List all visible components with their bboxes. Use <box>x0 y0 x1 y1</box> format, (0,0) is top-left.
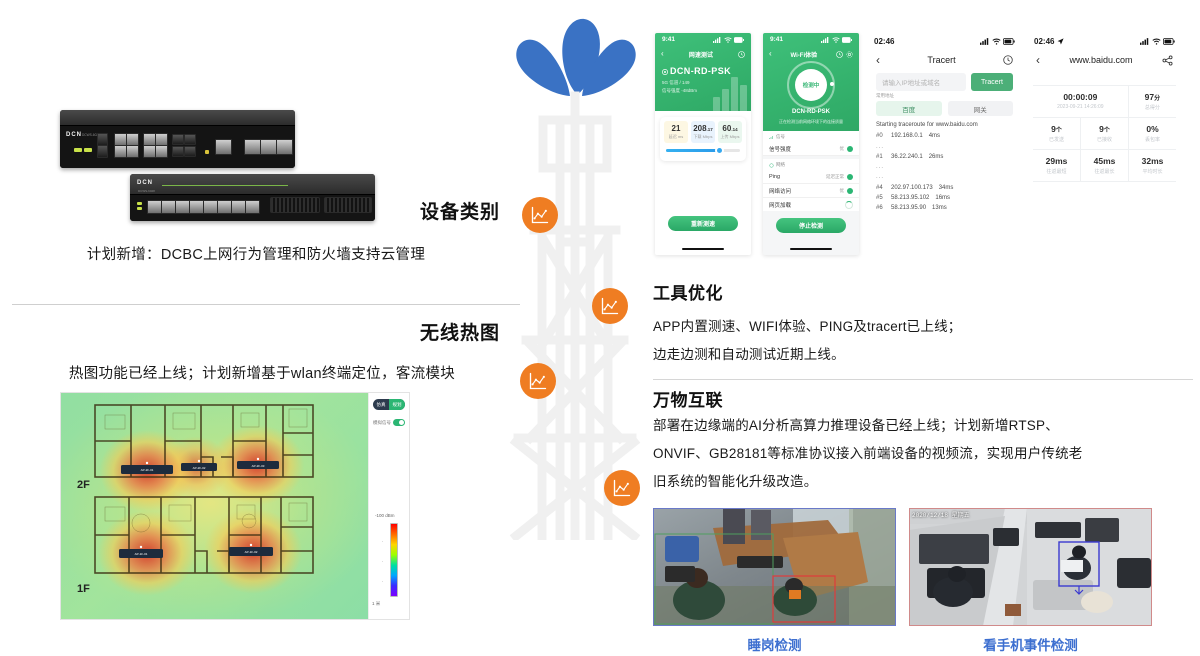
nav-title: www.baidu.com <box>1069 55 1132 65</box>
chart-icon <box>600 296 620 316</box>
status-icons <box>1140 38 1175 45</box>
wifi-ssid: DCN-RD-PSK <box>763 109 859 115</box>
status-icons <box>821 37 852 43</box>
stat-label: 已接收 <box>1081 136 1128 143</box>
stat-score: 97分 总得分 <box>1129 86 1176 117</box>
wifi-icon <box>992 38 1001 45</box>
divider-right <box>653 379 1193 380</box>
back-icon[interactable]: ‹ <box>661 50 664 58</box>
quick-address-chips: 百度 网关 <box>876 101 1013 116</box>
section-title-device-category: 设备类别 <box>0 197 500 224</box>
stat-value: 9个 <box>1033 124 1080 134</box>
stat-label: 已发送 <box>1033 136 1080 143</box>
phone-screenshot-tracert: 02:46 <box>867 33 1022 255</box>
metric-label: 延迟 ms <box>664 134 688 140</box>
heatmap-sidebar: 仿真 规划 模拟信号 -100 dBm · · · 1 米 <box>368 393 409 619</box>
legend-max-label: -100 dBm <box>375 513 395 518</box>
wifi-navbar: ‹ Wi-Fi体验 <box>763 47 859 61</box>
chip-baidu[interactable]: 百度 <box>876 101 942 116</box>
list-item-page-load[interactable]: 网页加载 <box>763 198 859 211</box>
heatmap-colorbar <box>390 523 398 597</box>
device-brand-label-2: DCN <box>137 180 153 186</box>
nav-title: Tracert <box>927 55 955 65</box>
item-value: 优 <box>840 146 845 152</box>
group-header-network: 网络 <box>763 159 859 170</box>
signal-icon <box>980 38 989 45</box>
section-body-device-category: 计划新增：DCBC上网行为管理和防火墙支持云管理 <box>0 243 512 264</box>
section-body-wireless-heatmap: 热图功能已经上线；计划新增基于wlan终端定位，客流模块 <box>0 362 524 383</box>
item-value: 延迟正常 <box>826 174 844 180</box>
signal-petals-icon <box>516 18 635 96</box>
dial-status-text: 检测中 <box>795 69 827 101</box>
stat-rtt-avg: 32ms 平均时长 <box>1129 150 1176 181</box>
simulate-signal-toggle[interactable] <box>393 419 405 426</box>
right-column: 9:41 <box>645 0 1200 656</box>
metric-label: 上传 Mbps <box>718 134 742 140</box>
stat-value: 9个 <box>1081 124 1128 134</box>
back-icon[interactable]: ‹ <box>876 54 880 66</box>
section-title-iot: 万物互联 <box>653 386 723 411</box>
report-navbar: ‹ www.baidu.com <box>1027 50 1182 70</box>
device-photo-switch-top: DCN DCWS-6028 <box>60 110 295 168</box>
heatmap-scale-label: 1 米 <box>372 601 380 607</box>
metric-value: 21 <box>664 124 688 133</box>
heatmap-toggle-row[interactable]: 模拟信号 <box>373 419 405 426</box>
dial-progress-dot <box>830 82 834 86</box>
status-icons <box>713 37 744 43</box>
group-header-signal: 信号 <box>763 131 859 142</box>
metric-upload: 60.14 上传 Mbps <box>718 121 742 143</box>
stat-duration: 00:00:09 2023-09-21 14:26:09 <box>1033 86 1129 117</box>
tracert-navbar: ‹ Tracert <box>867 50 1022 70</box>
report-stats-grid: 00:00:09 2023-09-21 14:26:09 97分 总得分 9个 … <box>1033 85 1176 182</box>
retest-button[interactable]: 重新测速 <box>668 216 738 231</box>
tab-planning[interactable]: 规划 <box>389 399 405 410</box>
back-icon[interactable]: ‹ <box>769 50 772 58</box>
battery-icon <box>842 37 852 43</box>
status-time: 9:41 <box>662 36 675 43</box>
signal-icon <box>713 37 721 43</box>
trace-row: ... <box>876 144 1016 150</box>
speedtest-ssid: DCN-RD-PSK <box>662 66 731 76</box>
speedtest-metrics-card: 21 延迟 ms 208.17 下载 Mbps 60.14 上传 Mbps <box>660 117 746 161</box>
stat-value: 29ms <box>1033 156 1080 166</box>
stat-value: 00:00:09 <box>1033 92 1128 102</box>
item-label: Ping <box>769 174 780 180</box>
ssid-sub-2: 信号强度 -48dBm <box>662 88 697 94</box>
chart-icon <box>528 371 548 391</box>
chart-badge-4 <box>604 470 640 506</box>
battery-icon <box>1003 38 1015 45</box>
floorplan-vector: AP-2F-01AP-2F-02 AP-2F-03AP-1F-01 AP-1F-… <box>61 393 369 619</box>
nav-title: 网速测试 <box>689 50 713 59</box>
trace-header: Starting traceroute for www.baidu.com <box>876 122 1016 128</box>
svg-text:AP-1F-01: AP-1F-01 <box>135 552 148 556</box>
trace-row: #558.213.95.10216ms <box>876 195 1016 201</box>
photo-caption-sleep: 睡岗检测 <box>653 634 896 654</box>
signal-icon <box>1140 38 1149 45</box>
tool-line-1: APP内置测速、WIFI体验、PING及tracert已上线； <box>653 313 1193 341</box>
tracert-input[interactable]: 请输入IP地址或域名 <box>876 73 966 91</box>
stat-sent: 9个 已发送 <box>1033 118 1081 149</box>
stat-received: 9个 已接收 <box>1081 118 1129 149</box>
stat-label: 总得分 <box>1129 104 1176 111</box>
home-indicator <box>790 248 832 251</box>
trace-row: #4202.97.100.17334ms <box>876 185 1016 191</box>
home-indicator <box>682 248 724 251</box>
item-label: 网络访问 <box>769 187 791 195</box>
heatmap-canvas: AP-2F-01AP-2F-02 AP-2F-03AP-1F-01 AP-1F-… <box>61 393 369 619</box>
wifi-header: 9:41 <box>763 33 859 131</box>
stat-rtt-min: 29ms 往返最短 <box>1033 150 1081 181</box>
signal-small-icon <box>769 135 774 140</box>
item-label: 信号强度 <box>769 145 791 153</box>
back-icon[interactable]: ‹ <box>1036 54 1040 66</box>
photo-timestamp: 2020/12/18 星期五 <box>912 510 970 519</box>
stop-scan-button[interactable]: 停止检测 <box>776 218 846 233</box>
input-placeholder: 请输入IP地址或域名 <box>882 77 940 87</box>
left-column: DCN DCWS-6028 <box>0 0 530 656</box>
stat-rtt-max: 45ms 往返最长 <box>1081 150 1129 181</box>
speedtest-navbar: ‹ 网速测试 <box>655 47 751 61</box>
item-value: 优 <box>840 188 845 194</box>
stat-value: 97分 <box>1129 92 1176 102</box>
floor-label-1f: 1F <box>77 583 90 595</box>
chart-badge-2 <box>592 288 628 324</box>
slide-root: DCN DCWS-6028 <box>0 0 1200 656</box>
wifi-group-signal: 信号 信号强度 优 <box>763 131 859 156</box>
trace-row: ... <box>876 174 1016 180</box>
wifi-dot-icon <box>662 69 668 75</box>
stat-label: 2023-09-21 14:26:09 <box>1033 104 1128 110</box>
phone-screenshot-row: 9:41 <box>645 33 1200 259</box>
tracert-run-button[interactable]: Tracert <box>971 73 1013 91</box>
trace-row: #136.22.240.126ms <box>876 154 1016 160</box>
trace-row: ... <box>876 164 1016 170</box>
stats-row: 00:00:09 2023-09-21 14:26:09 97分 总得分 <box>1033 86 1176 118</box>
network-small-icon <box>769 163 774 168</box>
status-icons <box>980 38 1015 45</box>
svg-text:AP-2F-03: AP-2F-03 <box>252 464 265 468</box>
stat-label: 往返最长 <box>1081 168 1128 175</box>
status-bar: 02:46 <box>1027 33 1182 50</box>
svg-text:AP-2F-01: AP-2F-01 <box>141 468 154 472</box>
section-title-wireless-heatmap: 无线热图 <box>0 318 500 345</box>
group-label: 网络 <box>776 162 785 168</box>
ssid-text: DCN-RD-PSK <box>670 66 731 76</box>
wireless-heatmap-screenshot: AP-2F-01AP-2F-02 AP-2F-03AP-1F-01 AP-1F-… <box>60 392 410 620</box>
iot-line-3: 旧系统的智能化升级改造。 <box>653 468 1198 496</box>
trace-row: #658.213.95.9013ms <box>876 205 1016 211</box>
stat-label: 平均时长 <box>1129 168 1176 175</box>
metric-latency: 21 延迟 ms <box>664 121 688 143</box>
photo-phone-vector <box>909 508 1152 626</box>
section-body-iot: 部署在边缘端的AI分析高算力推理设备已经上线；计划新增RTSP、 ONVIF、G… <box>653 412 1198 496</box>
phone-screenshot-web-report: 02:46 <box>1027 33 1182 255</box>
stat-label: 丢包率 <box>1129 136 1176 143</box>
stats-row: 29ms 往返最短 45ms 往返最长 32ms 平均时长 <box>1033 150 1176 182</box>
toggle-label: 模拟信号 <box>373 420 391 426</box>
decorative-bars <box>713 77 747 111</box>
list-item-ping[interactable]: Ping 延迟正常 <box>763 170 859 184</box>
stat-value: 32ms <box>1129 156 1176 166</box>
scan-dial: 检测中 <box>787 61 835 109</box>
status-time: 02:46 <box>1034 37 1054 46</box>
chart-icon <box>612 478 632 498</box>
chip-gateway[interactable]: 网关 <box>948 101 1014 116</box>
metric-value: 208.17 <box>691 124 715 133</box>
photo-sleep-vector <box>653 508 896 626</box>
list-item-signal-strength[interactable]: 信号强度 优 <box>763 142 859 156</box>
quick-address-label: 常用地址 <box>876 93 894 99</box>
heatmap-mode-tabs[interactable]: 仿真 规划 <box>373 399 405 410</box>
iot-line-2: ONVIF、GB28181等标准协议接入前端设备的视频流，实现用户传统老 <box>653 440 1198 468</box>
tracert-input-row: 请输入IP地址或域名 Tracert <box>876 73 1013 91</box>
svg-text:AP-1F-02: AP-1F-02 <box>245 550 258 554</box>
status-ok-icon <box>847 188 853 194</box>
tool-line-2: 边走边测和自动测试近期上线。 <box>653 341 1193 369</box>
wifi-icon <box>832 37 840 43</box>
gear-icon[interactable] <box>846 51 853 58</box>
stat-value: 0% <box>1129 124 1176 134</box>
svg-text:AP-2F-02: AP-2F-02 <box>193 466 206 470</box>
wifi-group-network: 网络 Ping 延迟正常 网络访问 优 网页加载 <box>763 159 859 211</box>
loading-spinner-icon <box>845 201 853 209</box>
phone-screenshot-speedtest: 9:41 <box>655 33 751 255</box>
stat-loss: 0% 丢包率 <box>1129 118 1176 149</box>
device-model-label-2: DCWS-6028 <box>138 189 155 193</box>
status-bar: 9:41 <box>763 33 859 46</box>
trace-row: #0192.168.0.14ms <box>876 133 1016 139</box>
wifi-ssid-sub: 正在检测当前网络环境下的连接质量 <box>763 119 859 125</box>
section-body-tool-optimization: APP内置测速、WIFI体验、PING及tracert已上线； 边走边测和自动测… <box>653 313 1193 369</box>
metric-value: 60.14 <box>718 124 742 133</box>
section-title-tool-optimization: 工具优化 <box>653 279 723 304</box>
history-icon[interactable] <box>836 51 843 58</box>
metric-label: 下载 Mbps <box>691 134 715 140</box>
photo-phone-usage-detection: 2020/12/18 星期五 <box>909 508 1152 626</box>
nav-title: Wi-Fi体验 <box>791 50 818 59</box>
tracert-output: Starting traceroute for www.baidu.com #0… <box>876 122 1016 216</box>
item-label: 网页加载 <box>769 201 791 209</box>
stats-row: 9个 已发送 9个 已接收 0% 丢包率 <box>1033 118 1176 150</box>
status-bar: 02:46 <box>867 33 1022 50</box>
status-ok-icon <box>847 174 853 180</box>
phone-screenshot-wifi-experience: 9:41 <box>763 33 859 255</box>
floor-label-2f: 2F <box>77 479 90 491</box>
history-icon[interactable] <box>738 51 745 58</box>
status-time: 02:46 <box>874 37 894 46</box>
iot-line-1: 部署在边缘端的AI分析高算力推理设备已经上线；计划新增RTSP、 <box>653 412 1198 440</box>
status-bar: 9:41 <box>655 33 751 46</box>
divider-left <box>12 304 520 305</box>
status-time-wrap: 02:46 <box>1034 37 1064 46</box>
photo-sleep-detection <box>653 508 896 626</box>
wifi-icon <box>724 37 732 43</box>
battery-icon <box>734 37 744 43</box>
status-time: 9:41 <box>770 36 783 43</box>
signal-icon <box>821 37 829 43</box>
list-item-network-access[interactable]: 网络访问 优 <box>763 184 859 198</box>
tab-simulation[interactable]: 仿真 <box>373 399 389 410</box>
history-icon[interactable] <box>1003 55 1013 65</box>
speed-slider[interactable] <box>666 149 740 152</box>
share-icon[interactable] <box>1162 55 1173 66</box>
speedtest-header: 9:41 <box>655 33 751 111</box>
photo-caption-phone: 看手机事件检测 <box>909 634 1152 654</box>
ssid-sub-1: 5G 信道 / 149 <box>662 80 690 86</box>
group-label: 信号 <box>776 134 785 140</box>
stat-value: 45ms <box>1081 156 1128 166</box>
status-ok-icon <box>847 146 853 152</box>
location-arrow-icon <box>1057 38 1064 45</box>
slider-knob[interactable] <box>715 146 724 155</box>
wifi-icon <box>1152 38 1161 45</box>
stat-label: 往返最短 <box>1033 168 1080 175</box>
battery-icon <box>1163 38 1175 45</box>
chart-icon <box>530 205 550 225</box>
device-brand-label: DCN <box>66 132 82 138</box>
metric-download: 208.17 下载 Mbps <box>691 121 715 143</box>
